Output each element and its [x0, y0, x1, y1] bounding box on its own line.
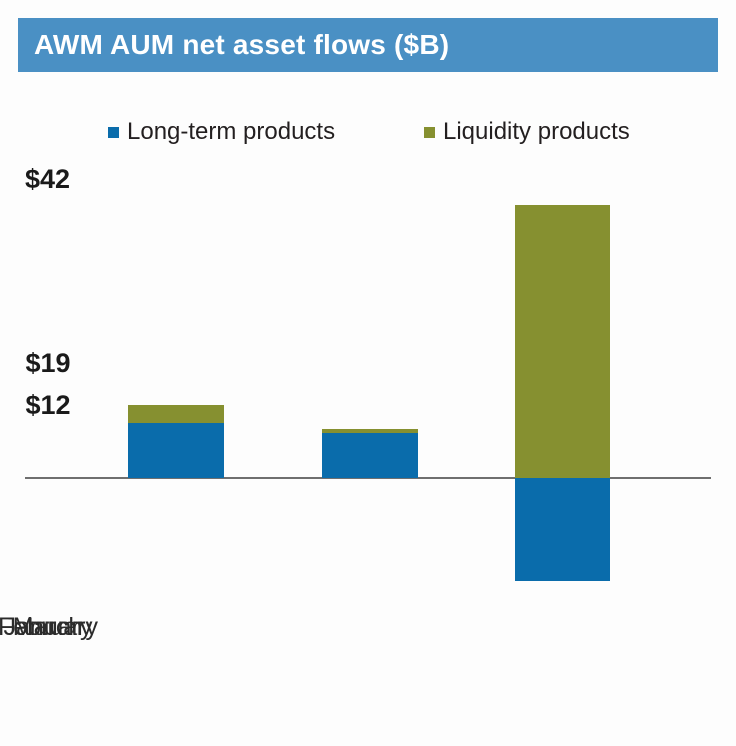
plot-area: $19 January $12 February $42 March	[0, 0, 736, 746]
value-label-january: $19	[0, 348, 116, 379]
bar-segment-long-term	[322, 433, 418, 478]
bar-group-february	[322, 0, 418, 746]
value-label-february: $12	[0, 390, 116, 421]
bar-segment-liquidity	[128, 405, 224, 423]
chart-canvas: AWM AUM net asset flows ($B) Long-term p…	[0, 0, 736, 746]
bar-group-march	[515, 0, 610, 746]
bar-segment-long-term	[515, 478, 610, 581]
value-label-march: $42	[0, 164, 115, 195]
bar-segment-liquidity	[515, 205, 610, 478]
category-label-march: March	[0, 613, 139, 642]
bar-segment-long-term	[128, 423, 224, 478]
